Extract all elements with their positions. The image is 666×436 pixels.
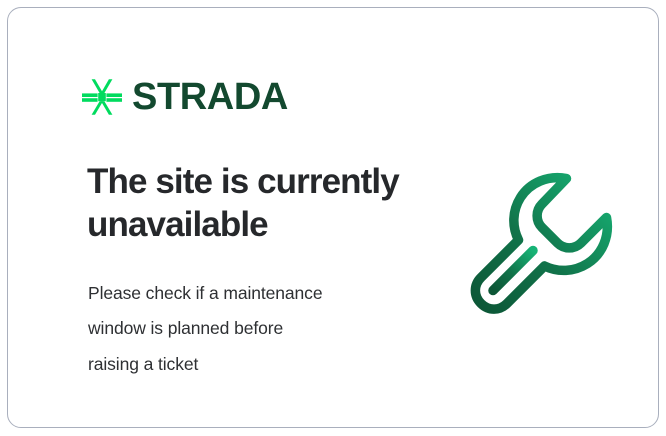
description-line: raising a ticket: [88, 347, 408, 382]
brand-lockup: STRADA: [81, 76, 288, 118]
page-description: Please check if a maintenance window is …: [88, 276, 408, 382]
description-line: Please check if a maintenance: [88, 276, 408, 311]
brand-wordmark: STRADA: [132, 78, 288, 116]
wrench-icon: [463, 166, 621, 318]
strada-asterisk-icon: [81, 76, 123, 118]
page-title: The site is currently unavailable: [87, 160, 427, 246]
description-line: window is planned before: [88, 311, 408, 346]
error-page: STRADA The site is currently unavailable…: [0, 0, 666, 436]
status-card: STRADA The site is currently unavailable…: [7, 7, 659, 428]
